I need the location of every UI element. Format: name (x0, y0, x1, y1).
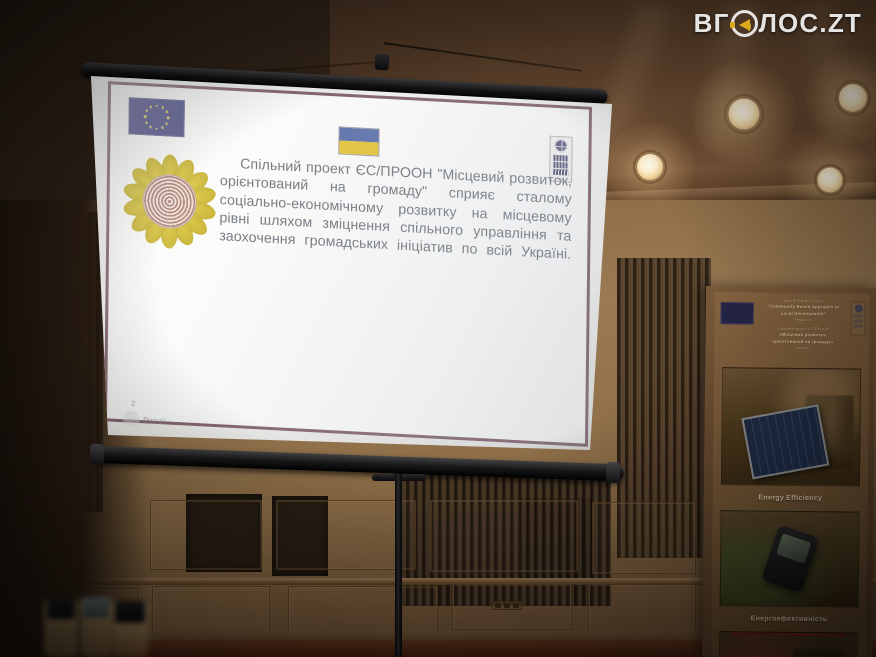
screen-bottom-roller-bar (96, 446, 624, 481)
banner-title-block: Joint EU/UNDP Project "Community Based A… (764, 299, 842, 352)
slide-page-number: 2 (131, 399, 135, 408)
banner-sheet: Joint EU/UNDP Project "Community Based A… (711, 292, 870, 657)
prezi-watermark: Prezi (123, 410, 166, 429)
european-union-flag-icon (128, 97, 184, 137)
banner-caption-energy-efficiency-en: Energy Efficiency (713, 485, 868, 509)
roller-bar-cap-right (606, 462, 620, 483)
ceiling-light-2 (692, 62, 796, 166)
ukraine-flag-icon (338, 126, 379, 156)
wall-power-outlet (492, 601, 522, 610)
ceiling-light-1 (605, 122, 695, 212)
wall-panel-9 (592, 502, 696, 574)
wall-panel-3 (288, 586, 438, 632)
banner-phase-en: Phase III (765, 317, 842, 323)
megaphone-icon (731, 10, 758, 37)
banner-title-ua-main: «Місцевий розвиток, орієнтований на гром… (764, 332, 841, 346)
slide-text-block: Спільний проект ЄС/ПРООН "Місцевий розви… (215, 148, 576, 283)
water-bottle-left (44, 599, 78, 657)
projector-screen: UNDP (78, 58, 618, 483)
wall-panel-6 (150, 500, 262, 570)
banner-photo-boiler-room (718, 631, 858, 657)
screen-hook (375, 54, 390, 71)
banner-title-main: "Community Based Approach to Local Devel… (765, 304, 842, 318)
photo-scene: UNDP (0, 0, 876, 657)
wall-panel-8 (430, 500, 578, 572)
banner-header: Joint EU/UNDP Project "Community Based A… (714, 292, 870, 366)
banner-eu-flag-icon (721, 302, 754, 324)
presentation-slide: UNDP (104, 81, 592, 447)
banner-phase-ua: Фаза III (764, 345, 841, 351)
water-bottle-right (112, 601, 148, 657)
banner-caption-energy-efficiency-ua: Енергоефективність (711, 606, 866, 630)
rollup-banner: Joint EU/UNDP Project "Community Based A… (702, 286, 876, 657)
undp-globe-icon (554, 139, 567, 153)
tripod-pole (395, 474, 402, 657)
banner-photo-energy-meter (720, 510, 860, 607)
foreground-water-bottles (26, 596, 176, 657)
banner-red-strip (732, 631, 845, 636)
watermark-text-after: ЛОС.ZT (759, 8, 862, 39)
roller-bar-cap-left (90, 444, 104, 465)
water-bottle-center (80, 597, 112, 657)
banner-photo-solar-panel (721, 367, 861, 486)
sunflower-logo-icon (123, 151, 216, 252)
prezi-mark-icon (123, 410, 140, 428)
banner-photo-machine (793, 649, 844, 657)
slide-body: Спільний проект ЄС/ПРООН "Місцевий розви… (121, 143, 576, 283)
watermark-text-before: ВГ (694, 8, 730, 39)
wall-panel-5 (588, 584, 696, 632)
energy-meter-icon (761, 525, 819, 593)
banner-undp-logo-icon (850, 302, 865, 336)
projected-slide-area: UNDP (78, 58, 618, 468)
eu-stars (143, 104, 169, 131)
slide-paragraph: Спільний проект ЄС/ПРООН "Місцевий розви… (219, 154, 572, 283)
site-watermark: ВГ ЛОС.ZT (694, 8, 862, 39)
prezi-label: Prezi (143, 415, 166, 426)
